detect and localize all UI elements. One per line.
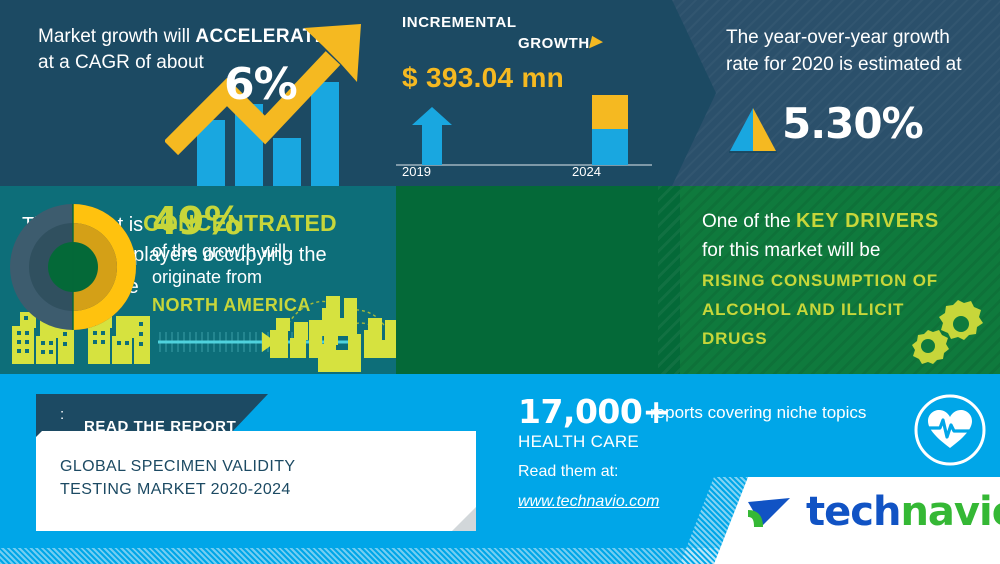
read-the-report-label: READ THE REPORT: xyxy=(60,406,65,423)
key-drivers-prefix: One of the xyxy=(702,211,796,232)
incremental-growth-bar-chart xyxy=(396,95,652,167)
triangle-up-icon xyxy=(726,106,780,154)
technavio-logo-text: technavio xyxy=(806,489,1000,535)
key-drivers-headline: One of the KEY DRIVERS xyxy=(702,208,939,234)
panel-incremental-growth: INCREMENTAL GROWTH▶ $ 393.04 mn 2019 202… xyxy=(372,0,672,186)
reports-category: HEALTH CARE xyxy=(518,432,639,452)
yoy-line2: rate for 2020 is estimated at xyxy=(726,52,962,77)
diagonal-stripe-texture xyxy=(658,186,680,374)
reports-count: 17,000+ xyxy=(518,392,670,431)
north-america-region: NORTH AMERICA xyxy=(152,294,311,318)
panel-yoy-growth: The year-over-year growth rate for 2020 … xyxy=(672,0,1000,186)
infographic-root: Market growth will ACCELERATE at a CAGR … xyxy=(0,0,1000,564)
read-the-report-colon: : xyxy=(60,406,65,423)
reports-description: reports covering niche topics xyxy=(650,403,866,423)
key-driver-text-line1: RISING CONSUMPTION OF xyxy=(702,270,938,292)
north-america-line1: of the growth will xyxy=(152,240,286,264)
panel-key-drivers: One of the KEY DRIVERS for this market w… xyxy=(680,186,1000,374)
play-triangle-icon: ▶ xyxy=(590,33,602,52)
report-title-line2: TESTING MARKET 2020-2024 xyxy=(60,478,295,501)
cagr-value: 6% xyxy=(224,56,297,114)
yoy-value: 5.30% xyxy=(782,96,923,151)
report-title: GLOBAL SPECIMEN VALIDITY TESTING MARKET … xyxy=(60,455,295,501)
incremental-title-line2: GROWTH xyxy=(518,35,590,52)
page-fold-corner-icon xyxy=(452,507,476,531)
key-drivers-line2: for this market will be xyxy=(702,238,880,263)
panel-cagr: Market growth will ACCELERATE at a CAGR … xyxy=(0,0,372,186)
yoy-line1: The year-over-year growth xyxy=(726,25,950,50)
panel-north-america xyxy=(396,186,680,374)
heart-pulse-icon xyxy=(912,392,988,468)
incremental-label-2019: 2019 xyxy=(402,163,431,180)
incremental-title-line1: INCREMENTAL xyxy=(402,14,517,31)
paper-plane-icon xyxy=(746,496,798,538)
north-america-percent: 49% xyxy=(152,196,241,246)
logo-text-navio: navio xyxy=(900,489,1000,535)
incremental-growth-title: INCREMENTAL GROWTH▶ xyxy=(402,14,602,54)
growth-origin-donut-chart xyxy=(8,200,138,334)
incremental-growth-value: $ 393.04 mn xyxy=(402,60,564,97)
north-america-line2: originate from xyxy=(152,266,262,290)
gears-icon xyxy=(906,296,986,368)
key-driver-text-line3: DRUGS xyxy=(702,328,767,350)
read-them-at-label: Read them at: xyxy=(518,463,619,481)
key-drivers-emphasis: KEY DRIVERS xyxy=(796,210,939,232)
report-card[interactable]: GLOBAL SPECIMEN VALIDITY TESTING MARKET … xyxy=(36,431,476,531)
incremental-label-2024: 2024 xyxy=(572,163,601,180)
technavio-url-link[interactable]: www.technavio.com xyxy=(518,493,659,511)
logo-text-tech: tech xyxy=(806,489,900,535)
report-title-line1: GLOBAL SPECIMEN VALIDITY xyxy=(60,455,295,478)
key-driver-text-line2: ALCOHOL AND ILLICIT xyxy=(702,299,904,321)
